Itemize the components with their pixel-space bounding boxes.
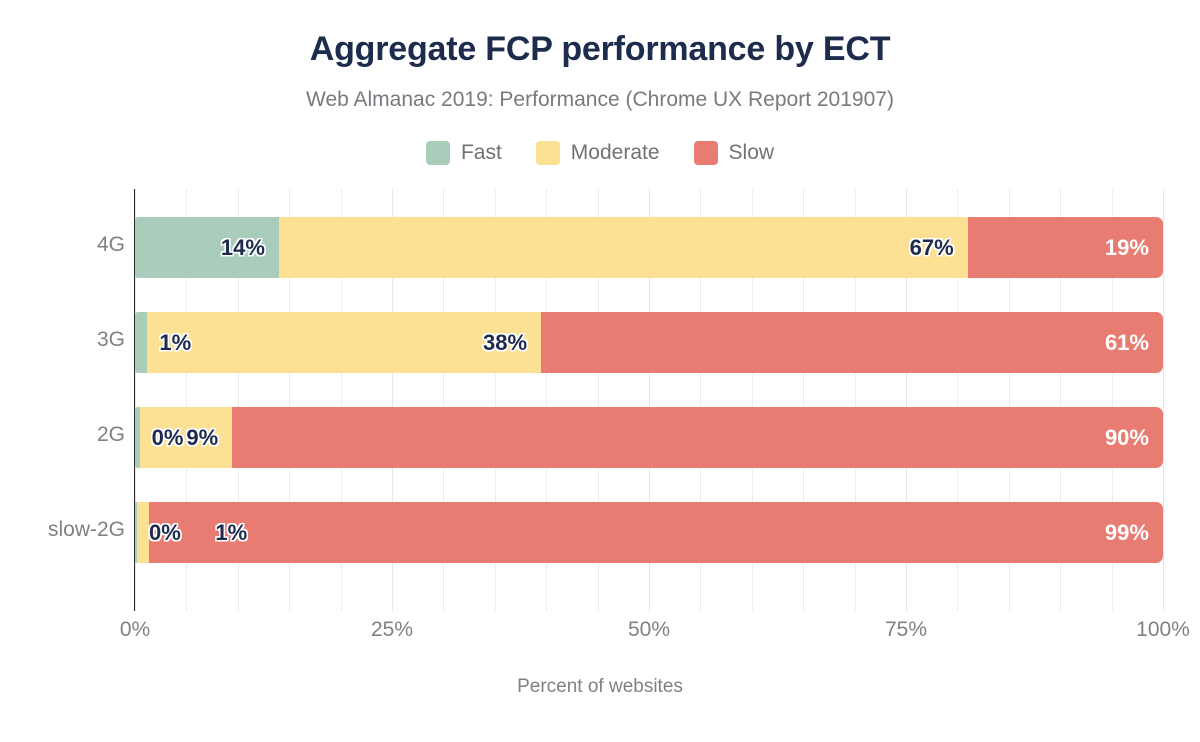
bar-value-label: 19% [1105, 235, 1163, 261]
chart-subtitle: Web Almanac 2019: Performance (Chrome UX… [0, 88, 1200, 112]
bar-segment-moderate[interactable]: 67% [279, 217, 968, 278]
legend-item-moderate[interactable]: Moderate [536, 141, 660, 165]
bar-value-label: 99% [1105, 520, 1163, 546]
legend-swatch-icon [536, 141, 560, 165]
legend-label: Fast [461, 141, 502, 165]
bar-row-3g[interactable]: 1%38%61% [135, 312, 1163, 373]
legend-label: Slow [729, 141, 775, 165]
legend-label: Moderate [571, 141, 660, 165]
y-tick-slow-2g: slow-2G [0, 518, 125, 542]
x-tick-0: 0% [120, 618, 150, 642]
bar-segment-moderate[interactable]: 38% [147, 312, 541, 373]
chart-title: Aggregate FCP performance by ECT [0, 30, 1200, 69]
x-tick-50: 50% [628, 618, 670, 642]
bar-value-label: 1% [147, 330, 191, 356]
bar-value-label: 9% [186, 425, 232, 451]
bar-segment-fast[interactable]: 14% [135, 217, 279, 278]
chart-container: Aggregate FCP performance by ECT Web Alm… [0, 0, 1200, 742]
bar-segment-slow[interactable]: 99% [149, 502, 1163, 563]
bar-segment-slow[interactable]: 90% [232, 407, 1163, 468]
x-tick-25: 25% [371, 618, 413, 642]
bar-segment-fast[interactable]: 1% [135, 312, 147, 373]
bar-value-label: 0% [140, 425, 184, 451]
bar-row-4g[interactable]: 14%67%19% [135, 217, 1163, 278]
bar-value-label: 1% [149, 520, 247, 546]
chart-legend: FastModerateSlow [0, 141, 1200, 165]
bar-row-2g[interactable]: 0%9%90% [135, 407, 1163, 468]
x-axis-label: Percent of websites [0, 676, 1200, 698]
bar-segment-slow[interactable]: 61% [541, 312, 1163, 373]
x-tick-75: 75% [885, 618, 927, 642]
legend-swatch-icon [426, 141, 450, 165]
bar-segment-slow[interactable]: 19% [968, 217, 1163, 278]
y-tick-2g: 2G [0, 423, 125, 447]
plot-area: 14%67%19%1%38%61%0%9%90%0%1%99% [135, 189, 1163, 611]
legend-swatch-icon [694, 141, 718, 165]
gridline [1163, 189, 1164, 611]
bar-value-label: 61% [1105, 330, 1163, 356]
bar-value-label: 90% [1105, 425, 1163, 451]
legend-item-slow[interactable]: Slow [694, 141, 775, 165]
legend-item-fast[interactable]: Fast [426, 141, 502, 165]
x-tick-labels: 0%25%50%75%100% [135, 618, 1163, 648]
y-tick-4g: 4G [0, 233, 125, 257]
bar-value-label: 14% [221, 235, 279, 261]
x-tick-100: 100% [1136, 618, 1190, 642]
y-tick-3g: 3G [0, 328, 125, 352]
bar-row-slow-2g[interactable]: 0%1%99% [135, 502, 1163, 563]
bar-value-label: 67% [910, 235, 968, 261]
bar-value-label: 38% [483, 330, 541, 356]
